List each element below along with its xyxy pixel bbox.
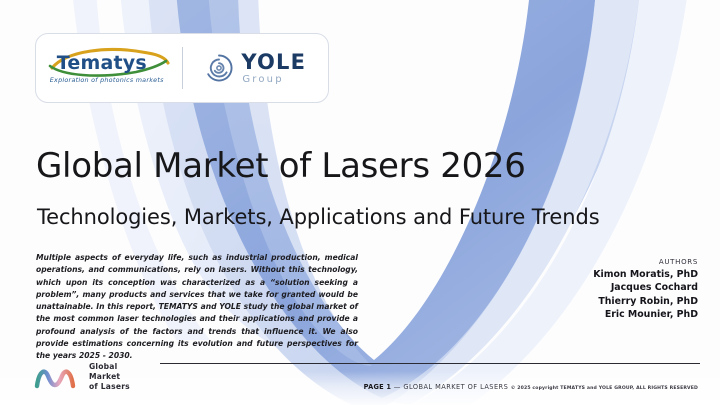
- footer-page-label: PAGE 1: [364, 383, 392, 391]
- gml-line-2: Market: [89, 372, 130, 382]
- author-name: Thierry Robin, PhD: [593, 295, 698, 308]
- footer-note: PAGE 1 — GLOBAL MARKET OF LASERS © 2025 …: [364, 374, 698, 393]
- author-name: Jacques Cochard: [593, 281, 698, 294]
- yole-wordmark: YOLE: [241, 52, 306, 73]
- footer-divider: [160, 363, 700, 364]
- cover-page: Tematys Exploration of photonics markets…: [0, 0, 720, 405]
- page-subtitle: Technologies, Markets, Applications and …: [37, 205, 600, 229]
- yole-sub-wordmark: Group: [242, 75, 306, 85]
- authors-block: AUTHORS Kimon Moratis, PhD Jacques Cocha…: [593, 258, 698, 321]
- page-title: Global Market of Lasers 2026: [36, 146, 526, 186]
- abstract-paragraph: Multiple aspects of everyday life, such …: [36, 252, 358, 363]
- tematys-tagline: Exploration of photonics markets: [50, 76, 164, 84]
- footer-report-title: GLOBAL MARKET OF LASERS: [403, 383, 510, 391]
- wave-m-icon: [34, 363, 82, 391]
- yole-logo: YOLE Group: [183, 34, 329, 102]
- author-name: Eric Mounier, PhD: [593, 308, 698, 321]
- gml-line-1: Global: [89, 362, 130, 372]
- yole-spiral-icon: [204, 53, 234, 83]
- footer-separator: —: [391, 383, 403, 391]
- global-market-of-lasers-logo: Global Market of Lasers: [34, 362, 130, 393]
- footer-copyright: © 2025 copyright TEMATYS and YOLE GROUP,…: [511, 386, 698, 391]
- global-market-of-lasers-wordmark: Global Market of Lasers: [89, 362, 130, 393]
- tematys-wordmark: Tematys: [57, 52, 147, 74]
- author-name: Kimon Moratis, PhD: [593, 268, 698, 281]
- gml-line-3: of Lasers: [89, 382, 130, 392]
- authors-label: AUTHORS: [593, 258, 698, 266]
- tematys-logo: Tematys Exploration of photonics markets: [36, 34, 182, 102]
- brand-logo-card: Tematys Exploration of photonics markets…: [35, 33, 329, 103]
